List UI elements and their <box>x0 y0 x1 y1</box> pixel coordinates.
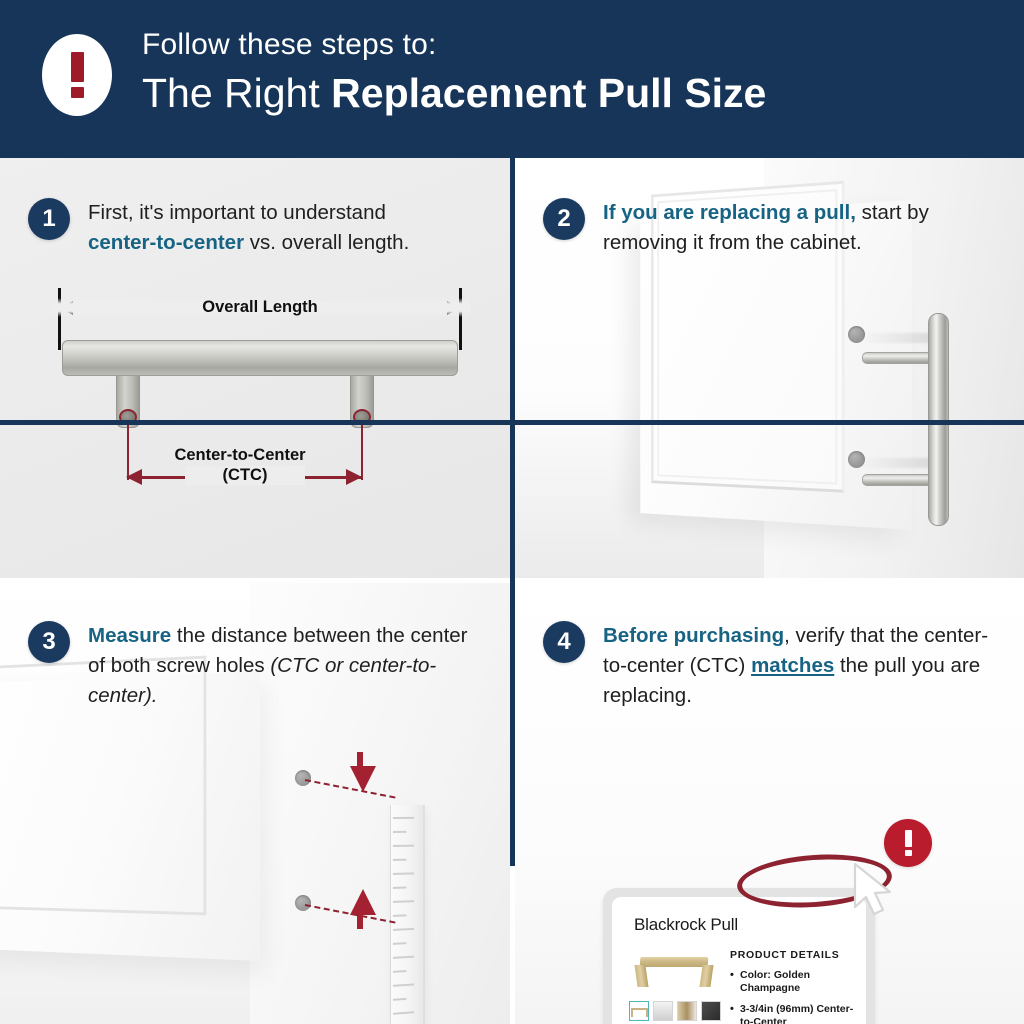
step-2-heading: 2 If you are replacing a pull, start by … <box>543 198 963 258</box>
pull-bar-graphic <box>62 340 458 376</box>
step-1-heading: 1 First, it's important to understand ce… <box>28 198 458 258</box>
thumbnail-4[interactable] <box>701 1001 721 1021</box>
ruler-tick <box>393 970 406 973</box>
thumbnail-strip[interactable] <box>629 1001 721 1021</box>
title-light: The Right <box>142 70 331 116</box>
alert-warning-icon <box>884 819 932 867</box>
product-detail-ctc: 3-3/4in (96mm) Center-to-Center <box>730 1003 858 1024</box>
ruler-tick <box>393 928 414 931</box>
cabinet-screw-hole-top <box>848 326 865 343</box>
product-details-list: Color: Golden Champagne 3-3/4in (96mm) C… <box>730 969 858 1024</box>
step-panel-4: 4 Before purchasing, verify that the cen… <box>515 583 1024 1024</box>
step-1-text: First, it's important to understand cent… <box>88 198 458 258</box>
step-4-highlight: Before purchasing <box>603 624 784 647</box>
ruler-tick <box>393 859 406 861</box>
step-2-highlight: If you are replacing a pull, <box>603 201 856 224</box>
pull-leg-bottom <box>862 474 934 486</box>
product-detail-screen: Blackrock Pull PRODU <box>612 897 866 1024</box>
pull-leg-top <box>862 352 934 364</box>
mouse-cursor-icon <box>851 862 905 924</box>
ruler-graphic <box>390 805 425 1024</box>
page-title: The Right Replacement Pull Size <box>142 68 766 119</box>
step-3-highlight: Measure <box>88 624 171 647</box>
overall-length-label: Overall Length <box>50 298 470 317</box>
ctc-arrow-left-icon <box>126 469 142 485</box>
horizontal-divider <box>0 420 1024 425</box>
product-image <box>632 949 718 997</box>
pull-motion-trail-top <box>860 333 938 343</box>
step-4-badge: 4 <box>543 621 585 663</box>
ctc-abbrev-label: (CTC) <box>185 466 305 485</box>
step-3-badge: 3 <box>28 621 70 663</box>
pull-motion-trail-bottom <box>860 458 938 468</box>
ruler-tick <box>393 914 406 917</box>
measure-screw-hole-top <box>295 770 311 786</box>
step-2-text: If you are replacing a pull, start by re… <box>603 198 963 258</box>
ruler-tick <box>393 983 414 986</box>
pull-measurement-diagram: Overall Length Center-to-Center (CTC) <box>50 298 470 488</box>
ruler-tick <box>393 845 414 847</box>
header-eyebrow: Follow these steps to: <box>142 26 766 64</box>
ruler-tick <box>393 887 406 889</box>
step-4-link[interactable]: matches <box>751 654 834 677</box>
ruler-tick <box>393 831 406 833</box>
measure-arrow-down-icon <box>350 752 376 794</box>
step-panel-1: 1 First, it's important to understand ce… <box>0 158 510 578</box>
title-bold: Replacement Pull Size <box>331 70 766 116</box>
step-1-badge: 1 <box>28 198 70 240</box>
ctc-label: Center-to-Center <box>90 446 390 465</box>
ruler-tick <box>393 817 414 819</box>
ruler-tick <box>393 998 406 1001</box>
measure-arrow-up-icon <box>350 885 376 929</box>
monitor-mockup: Blackrock Pull PRODU <box>603 888 875 1024</box>
product-details-heading: PRODUCT DETAILS <box>730 949 839 961</box>
step-3-text: Measure the distance between the center … <box>88 621 468 711</box>
product-title: Blackrock Pull <box>634 915 738 935</box>
step-4-heading: 4 Before purchasing, verify that the cen… <box>543 621 1003 711</box>
infographic-page: Follow these steps to: The Right Replace… <box>0 0 1024 1024</box>
step-3-heading: 3 Measure the distance between the cente… <box>28 621 468 711</box>
ruler-tick <box>393 956 414 959</box>
alert-exclamation-icon <box>42 34 112 116</box>
measure-screw-hole-bottom <box>295 895 311 911</box>
step-panel-3: 3 Measure the distance between the cente… <box>0 583 510 1024</box>
step-1-highlight: center-to-center <box>88 231 244 254</box>
ruler-tick <box>393 900 414 903</box>
ruler-tick <box>393 1011 414 1015</box>
ctc-arrow-right-icon <box>346 469 362 485</box>
cabinet-screw-hole-bottom <box>848 451 865 468</box>
step-2-badge: 2 <box>543 198 585 240</box>
vertical-divider <box>510 0 515 866</box>
thumbnail-3[interactable] <box>677 1001 697 1021</box>
header-text-block: Follow these steps to: The Right Replace… <box>142 26 766 119</box>
thumbnail-2[interactable] <box>653 1001 673 1021</box>
gold-pull-graphic <box>634 957 714 987</box>
step-1-text-b: vs. overall length. <box>244 231 409 254</box>
step-1-text-a: First, it's important to understand <box>88 201 386 224</box>
thumbnail-1[interactable] <box>629 1001 649 1021</box>
ruler-tick <box>393 942 406 945</box>
product-detail-color: Color: Golden Champagne <box>730 969 858 996</box>
step-4-text: Before purchasing, verify that the cente… <box>603 621 1003 711</box>
ruler-tick <box>393 872 414 875</box>
measure-door <box>0 671 260 961</box>
